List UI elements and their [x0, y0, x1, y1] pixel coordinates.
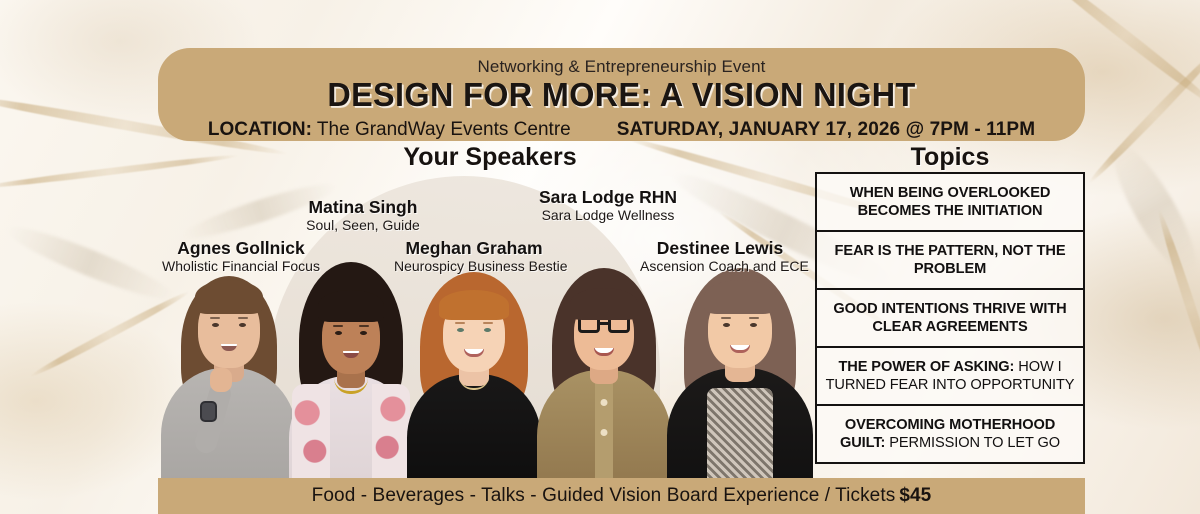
speaker-name: Agnes Gollnick — [161, 239, 321, 258]
speaker-role: Neurospicy Business Bestie — [394, 258, 554, 274]
speaker-role: Wholistic Financial Focus — [161, 258, 321, 274]
location-group: LOCATION: The GrandWay Events Centre — [208, 119, 571, 141]
event-info-line: LOCATION: The GrandWay Events Centre SAT… — [158, 118, 1085, 142]
marble-vein — [1154, 208, 1200, 401]
location-label: LOCATION: — [208, 119, 312, 140]
speaker-photo-destinee-lewis — [664, 248, 816, 480]
topic-text: WHEN BEING OVERLOOKED BECOMES THE INITIA… — [822, 184, 1078, 220]
speaker-name: Matina Singh — [283, 198, 443, 217]
speaker-label-matina-singh: Matina Singh Soul, Seen, Guide — [283, 198, 443, 233]
shirt-button — [601, 399, 608, 406]
topics-list: WHEN BEING OVERLOOKED BECOMES THE INITIA… — [815, 172, 1085, 464]
topic-text: THE POWER OF ASKING: HOW I TURNED FEAR I… — [822, 358, 1078, 394]
topic-item: WHEN BEING OVERLOOKED BECOMES THE INITIA… — [817, 174, 1083, 232]
marble-vein — [0, 152, 239, 191]
sequin-top — [707, 388, 773, 480]
topic-item: OVERCOMING MOTHERHOOD GUILT: PERMISSION … — [817, 406, 1083, 462]
location-value: The GrandWay Events Centre — [317, 119, 571, 140]
speaker-label-destinee-lewis: Destinee Lewis Ascension Coach and ECE — [640, 239, 800, 274]
speaker-name: Sara Lodge RHN — [528, 188, 688, 207]
footer-details: Food - Beverages - Talks - Guided Vision… — [312, 485, 896, 507]
topic-text: OVERCOMING MOTHERHOOD GUILT: PERMISSION … — [822, 416, 1078, 452]
topic-bold: GOOD INTENTIONS THRIVE WITH CLEAR AGREEM… — [833, 301, 1066, 335]
speaker-role: Soul, Seen, Guide — [283, 217, 443, 233]
speaker-name: Meghan Graham — [394, 239, 554, 258]
event-kicker: Networking & Entrepreneurship Event — [158, 57, 1085, 77]
speaker-label-meghan-graham: Meghan Graham Neurospicy Business Bestie — [394, 239, 554, 274]
footer-banner: Food - Beverages - Talks - Guided Vision… — [158, 478, 1085, 514]
speaker-photo-sara-lodge — [534, 248, 674, 480]
speaker-photo-matina-singh — [286, 248, 416, 480]
floral-print — [292, 384, 330, 480]
speaker-label-sara-lodge: Sara Lodge RHN Sara Lodge Wellness — [528, 188, 688, 223]
topics-heading: Topics — [815, 143, 1085, 172]
event-datetime: SATURDAY, JANUARY 17, 2026 @ 7PM - 11PM — [617, 119, 1035, 141]
shirt-placket — [595, 374, 613, 480]
topic-item: FEAR IS THE PATTERN, NOT THE PROBLEM — [817, 232, 1083, 290]
marble-vein — [1100, 135, 1200, 285]
marble-vein — [1086, 43, 1200, 186]
topic-text: FEAR IS THE PATTERN, NOT THE PROBLEM — [822, 242, 1078, 278]
topic-bold: WHEN BEING OVERLOOKED BECOMES THE INITIA… — [850, 185, 1051, 219]
speaker-photo-strip — [158, 248, 858, 480]
topic-text: GOOD INTENTIONS THRIVE WITH CLEAR AGREEM… — [822, 300, 1078, 336]
speakers-heading: Your Speakers — [390, 143, 590, 172]
speaker-photo-agnes-gollnick — [158, 248, 300, 480]
topic-rest: PERMISSION TO LET GO — [885, 435, 1060, 451]
ticket-price: $45 — [899, 485, 931, 507]
speaker-label-agnes-gollnick: Agnes Gollnick Wholistic Financial Focus — [161, 239, 321, 274]
speaker-photo-meghan-graham — [404, 248, 544, 480]
marble-vein — [2, 217, 179, 309]
topic-item: THE POWER OF ASKING: HOW I TURNED FEAR I… — [817, 348, 1083, 406]
footer-text-group: Food - Beverages - Talks - Guided Vision… — [158, 478, 1085, 514]
title-banner: Networking & Entrepreneurship Event DESI… — [158, 48, 1085, 141]
topic-bold: THE POWER OF ASKING: — [838, 359, 1014, 375]
speaker-name: Destinee Lewis — [640, 239, 800, 258]
topic-bold: FEAR IS THE PATTERN, NOT THE PROBLEM — [835, 243, 1066, 277]
event-flyer: Networking & Entrepreneurship Event DESI… — [0, 0, 1200, 514]
hand — [210, 368, 232, 392]
shirt-button — [601, 429, 608, 436]
topic-item: GOOD INTENTIONS THRIVE WITH CLEAR AGREEM… — [817, 290, 1083, 348]
speaker-role: Sara Lodge Wellness — [528, 207, 688, 223]
wristwatch — [200, 401, 217, 422]
event-title: DESIGN FOR MORE: A VISION NIGHT — [167, 76, 1075, 114]
speaker-role: Ascension Coach and ECE — [640, 258, 800, 274]
